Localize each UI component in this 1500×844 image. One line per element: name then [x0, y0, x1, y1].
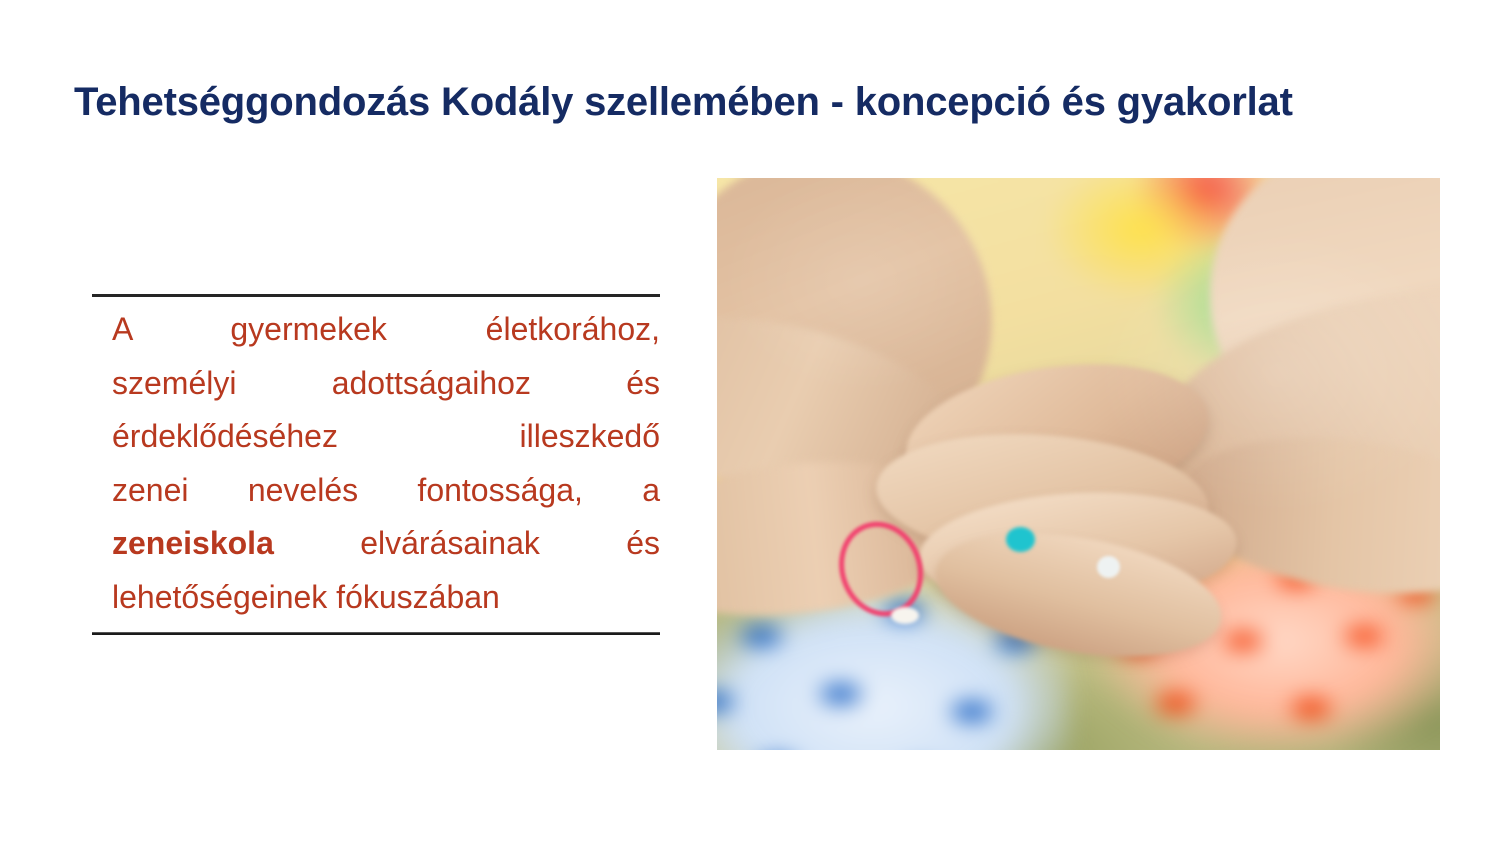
body-paragraph: A gyermekek életkorához, személyi adotts… [92, 297, 660, 632]
body-line: zenei nevelés fontossága, a [112, 464, 660, 518]
body-line-text: személyi adottságaihoz és [112, 365, 660, 401]
body-line: személyi adottságaihoz és [112, 357, 660, 411]
body-line-text: érdeklődéséhez illeszkedő [112, 418, 660, 454]
photo-haze-overlay [717, 178, 1440, 750]
panel-bottom-rule [92, 632, 660, 635]
body-line: A gyermekek életkorához, [112, 303, 660, 357]
slide-canvas: Tehetséggondozás Kodály szellemében - ko… [0, 0, 1500, 844]
body-line-text: A gyermekek életkorához, [112, 311, 660, 347]
body-line: lehetőségeinek fókuszában [112, 571, 660, 625]
body-line-text: zenei nevelés fontossága, a [112, 472, 660, 508]
body-line: érdeklődéséhez illeszkedő [112, 410, 660, 464]
body-line-text: elvárásainak és [360, 525, 660, 561]
quote-panel: A gyermekek életkorához, személyi adotts… [92, 294, 660, 635]
hands-photo [717, 178, 1440, 750]
page-title: Tehetséggondozás Kodály szellemében - ko… [74, 78, 1434, 126]
body-line-emphasised: zeneiskola elvárásainak és [112, 517, 660, 571]
body-line-text: lehetőségeinek fókuszában [112, 579, 500, 615]
emphasis-word: zeneiskola [112, 525, 274, 561]
